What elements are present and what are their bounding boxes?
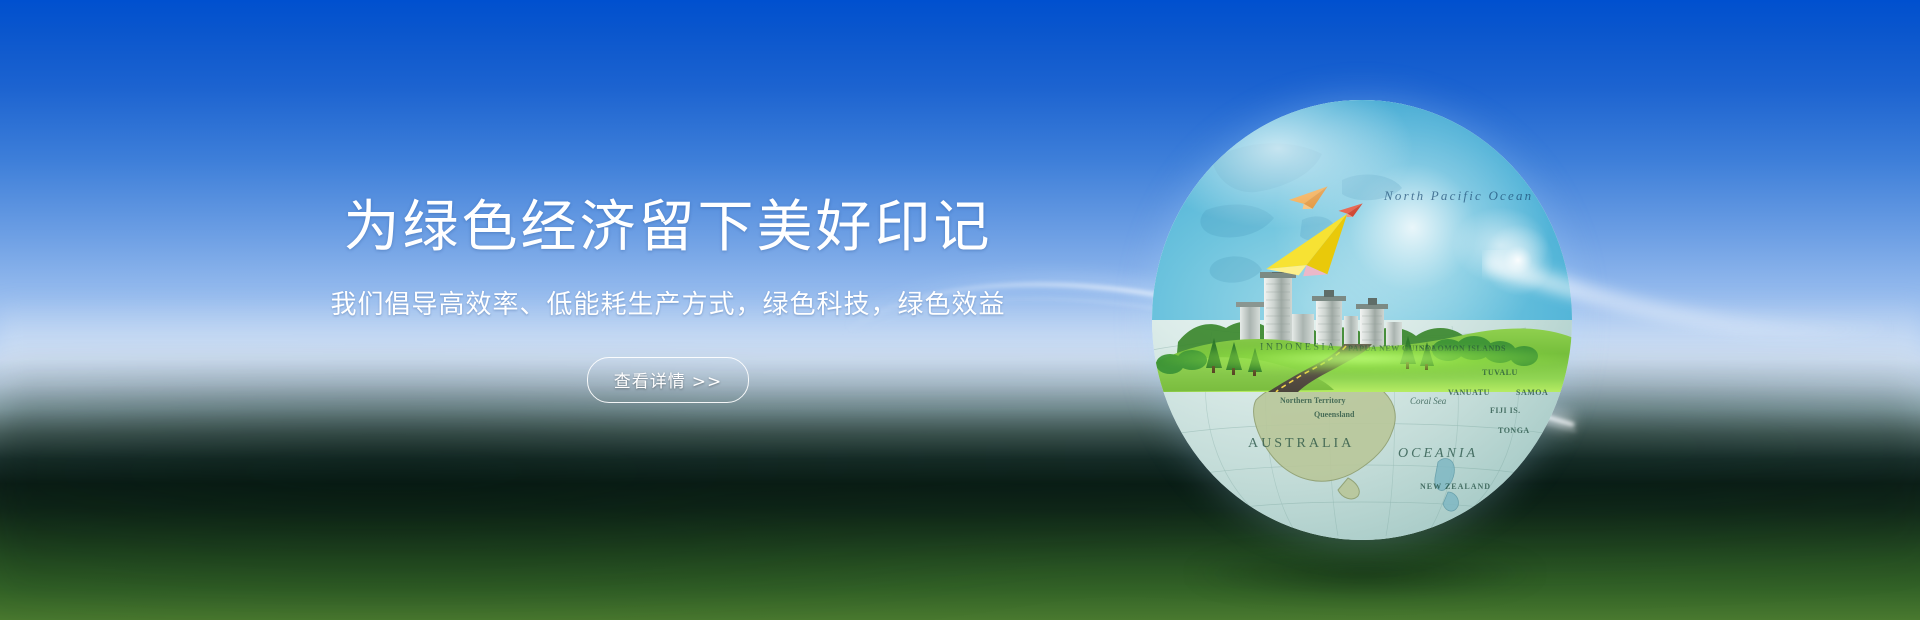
view-details-button[interactable]: 查看详情>> [587, 357, 750, 403]
hero-banner: 为绿色经济留下美好印记 我们倡导高效率、低能耗生产方式，绿色科技，绿色效益 查看… [0, 0, 1920, 620]
hero-cta-wrap: 查看详情>> [0, 357, 1336, 403]
map-label-new-zealand: NEW ZEALAND [1420, 482, 1491, 491]
view-details-label: 查看详情 [614, 372, 686, 391]
map-label-fiji: FIJI IS. [1490, 406, 1521, 415]
map-label-samoa: SAMOA [1516, 388, 1548, 397]
hero-copy: 为绿色经济留下美好印记 我们倡导高效率、低能耗生产方式，绿色科技，绿色效益 查看… [0, 196, 1336, 403]
map-label-coral-sea: Coral Sea [1410, 396, 1446, 406]
map-label-vanuatu: VANUATU [1448, 388, 1490, 397]
map-label-australia: AUSTRALIA [1248, 436, 1354, 452]
map-label-north-pacific-ocean: North Pacific Ocean [1384, 188, 1533, 204]
chevron-right-icon: >> [692, 372, 723, 392]
hero-subheadline: 我们倡导高效率、低能耗生产方式，绿色科技，绿色效益 [0, 288, 1336, 322]
background-ground-blur [0, 372, 1920, 620]
map-label-tonga: TONGA [1498, 426, 1530, 435]
hero-headline: 为绿色经济留下美好印记 [0, 196, 1336, 258]
map-label-oceania: OCEANIA [1398, 446, 1478, 462]
map-label-queensland: Queensland [1314, 410, 1354, 419]
